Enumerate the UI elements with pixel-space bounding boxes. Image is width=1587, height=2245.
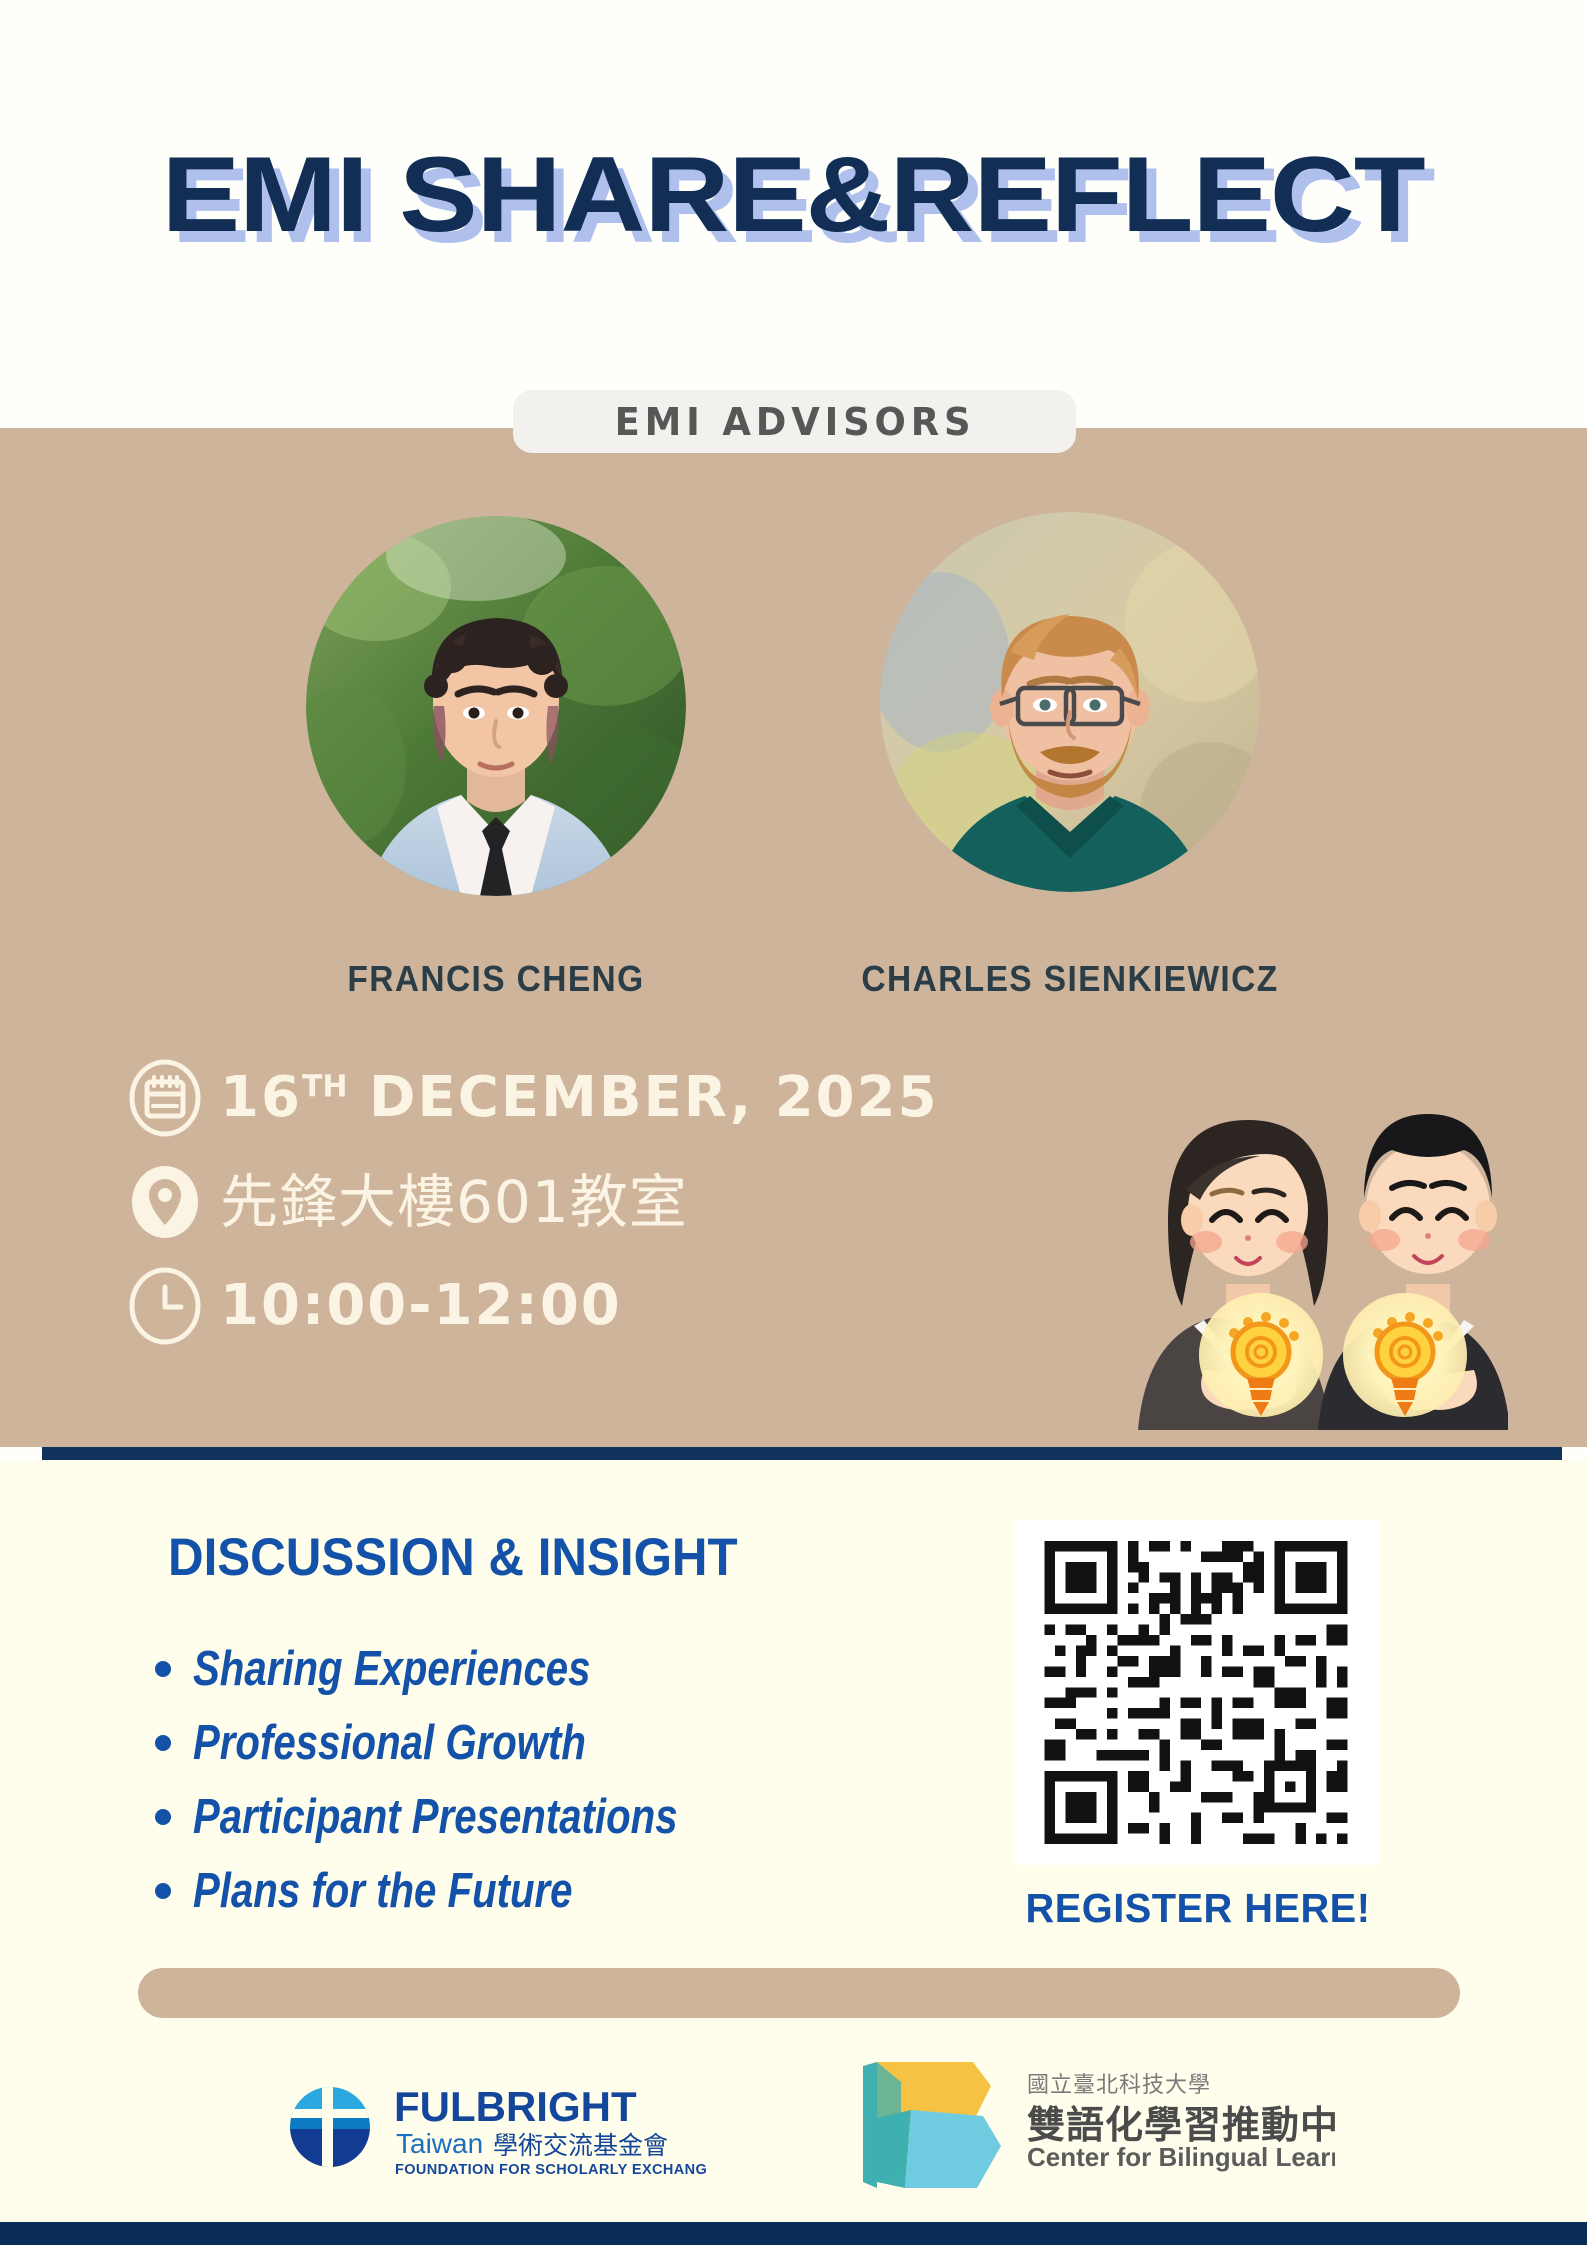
advisor-name-1: FRANCIS CHENG: [318, 958, 673, 1000]
event-date-row: 16TH DECEMBER, 2025: [126, 1055, 1086, 1141]
avatar-francis-cheng: [306, 516, 686, 896]
list-item: Participant Presentations: [155, 1780, 895, 1854]
bullet-dot-icon: [155, 1883, 171, 1899]
svg-text:雙語化學習推動中心: 雙語化學習推動中心: [1027, 2103, 1335, 2147]
page-title: EMI SHARE&REFLECT: [162, 140, 1425, 249]
location-pin-icon: [126, 1163, 204, 1241]
list-item: Plans for the Future: [155, 1854, 895, 1928]
discussion-heading: DISCUSSION & INSIGHT: [168, 1527, 738, 1588]
svg-text:Taiwan: Taiwan: [396, 2128, 483, 2159]
bilingual-center-logo: 國立臺北科技大學 雙語化學習推動中心 Center for Bilingual …: [855, 2060, 1335, 2190]
event-location-row: 先鋒大樓601教室: [126, 1159, 1086, 1245]
svg-text:Center for Bilingual Learning: Center for Bilingual Learning: [1027, 2142, 1335, 2172]
event-time-row: 10:00-12:00: [126, 1263, 1086, 1349]
poster-title-container: EMI SHARE&REFLECT: [0, 140, 1587, 249]
event-date-text: 16TH DECEMBER, 2025: [220, 1070, 939, 1126]
list-item: Sharing Experiences: [155, 1632, 895, 1706]
bottom-navy-bar: [0, 2222, 1587, 2245]
svg-text:國立臺北科技大學: 國立臺北科技大學: [1027, 2073, 1211, 2098]
qr-code[interactable]: [1013, 1520, 1379, 1865]
emi-advisors-badge: EMI ADVISORS: [513, 390, 1076, 453]
tan-pill-divider: [138, 1968, 1460, 2018]
discussion-list: Sharing Experiences Professional Growth …: [155, 1632, 895, 1928]
bullet-dot-icon: [155, 1809, 171, 1825]
event-location-text: 先鋒大樓601教室: [220, 1173, 688, 1231]
register-here-label[interactable]: REGISTER HERE!: [970, 1885, 1426, 1932]
emi-advisors-label: EMI ADVISORS: [614, 400, 975, 444]
section-divider: [42, 1447, 1562, 1460]
svg-text:學術交流基金會: 學術交流基金會: [493, 2131, 668, 2160]
avatar-charles-sienkiewicz: [880, 512, 1260, 892]
bullet-dot-icon: [155, 1735, 171, 1751]
list-item-label: Professional Growth: [193, 1715, 586, 1771]
advisor-name-2: CHARLES SIENKIEWICZ: [810, 958, 1331, 1000]
svg-text:FULBRIGHT: FULBRIGHT: [394, 2083, 637, 2130]
list-item-label: Participant Presentations: [193, 1789, 678, 1845]
list-item-label: Sharing Experiences: [193, 1641, 591, 1697]
list-item-label: Plans for the Future: [193, 1863, 573, 1919]
list-item: Professional Growth: [155, 1706, 895, 1780]
calendar-icon: [126, 1059, 204, 1137]
clock-icon: [126, 1267, 204, 1345]
fulbright-logo: FULBRIGHT Taiwan 學術交流基金會 FOUNDATION FOR …: [288, 2077, 708, 2185]
bullet-dot-icon: [155, 1661, 171, 1677]
poster-root: EMI SHARE&REFLECT EMI ADVISORS: [0, 0, 1587, 2245]
svg-text:FOUNDATION FOR SCHOLARLY EXCHA: FOUNDATION FOR SCHOLARLY EXCHANGE: [395, 2162, 708, 2178]
event-details: 16TH DECEMBER, 2025 先鋒大樓601教室 10:00-12:0…: [126, 1055, 1086, 1367]
event-time-text: 10:00-12:00: [220, 1278, 622, 1334]
two-people-with-lightbulbs-illustration: [1108, 1070, 1508, 1430]
